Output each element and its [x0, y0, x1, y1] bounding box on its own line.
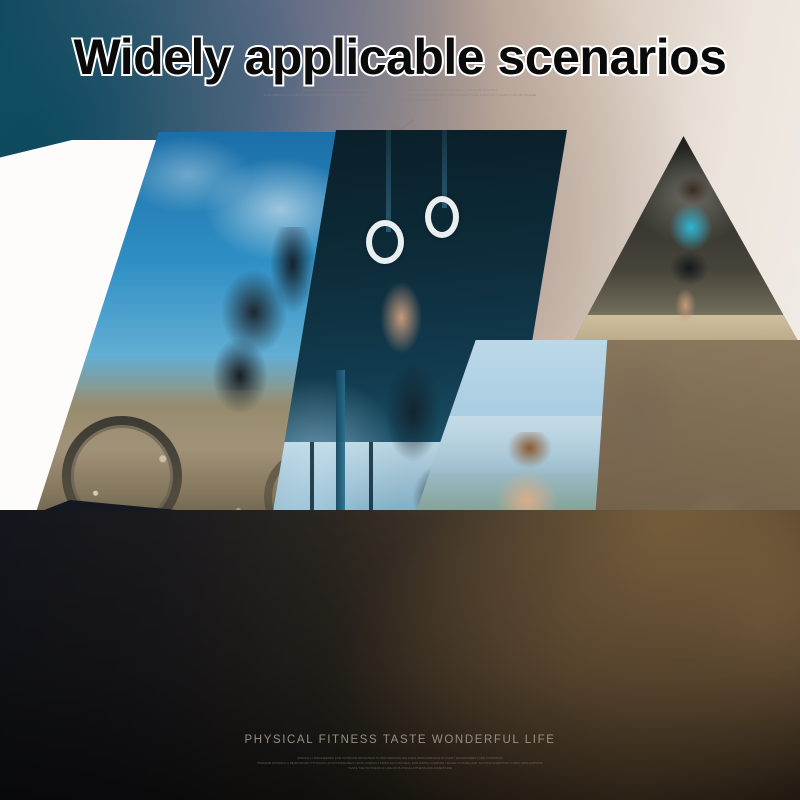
subtitle-microtext: PROFESSIONAL OUTDOOR SPORTS ACCESSORY DE… — [215, 88, 585, 103]
gymnastic-ring — [425, 196, 459, 238]
ring-strap — [386, 130, 391, 232]
trail-running-photo — [560, 136, 800, 366]
footnote-line-3: TASTE THE WONDERFUL LIFE OF PHYSICAL FIT… — [303, 766, 496, 771]
gymnastic-ring — [366, 220, 404, 264]
footer-caption: PHYSICAL FITNESS TASTE WONDERFUL LIFE — [0, 734, 800, 746]
chevron-down-icon — [385, 118, 415, 132]
footer: PHYSICAL FITNESS TASTE WONDERFUL LIFE SP… — [0, 710, 800, 800]
footer-microtext: SPECIALLY ENGINEERED FOR OUTDOOR ENTHUSI… — [190, 756, 610, 771]
subtitle-line-3: COMFORTABLE SECURE FIT FOR ALL SCENARIOS — [304, 98, 496, 103]
header: Widely applicable scenarios PROFESSIONAL… — [0, 0, 800, 150]
page-title: Widely applicable scenarios — [0, 28, 800, 86]
promo-banner: Widely applicable scenarios PROFESSIONAL… — [0, 0, 800, 800]
runner-figure — [646, 173, 737, 343]
